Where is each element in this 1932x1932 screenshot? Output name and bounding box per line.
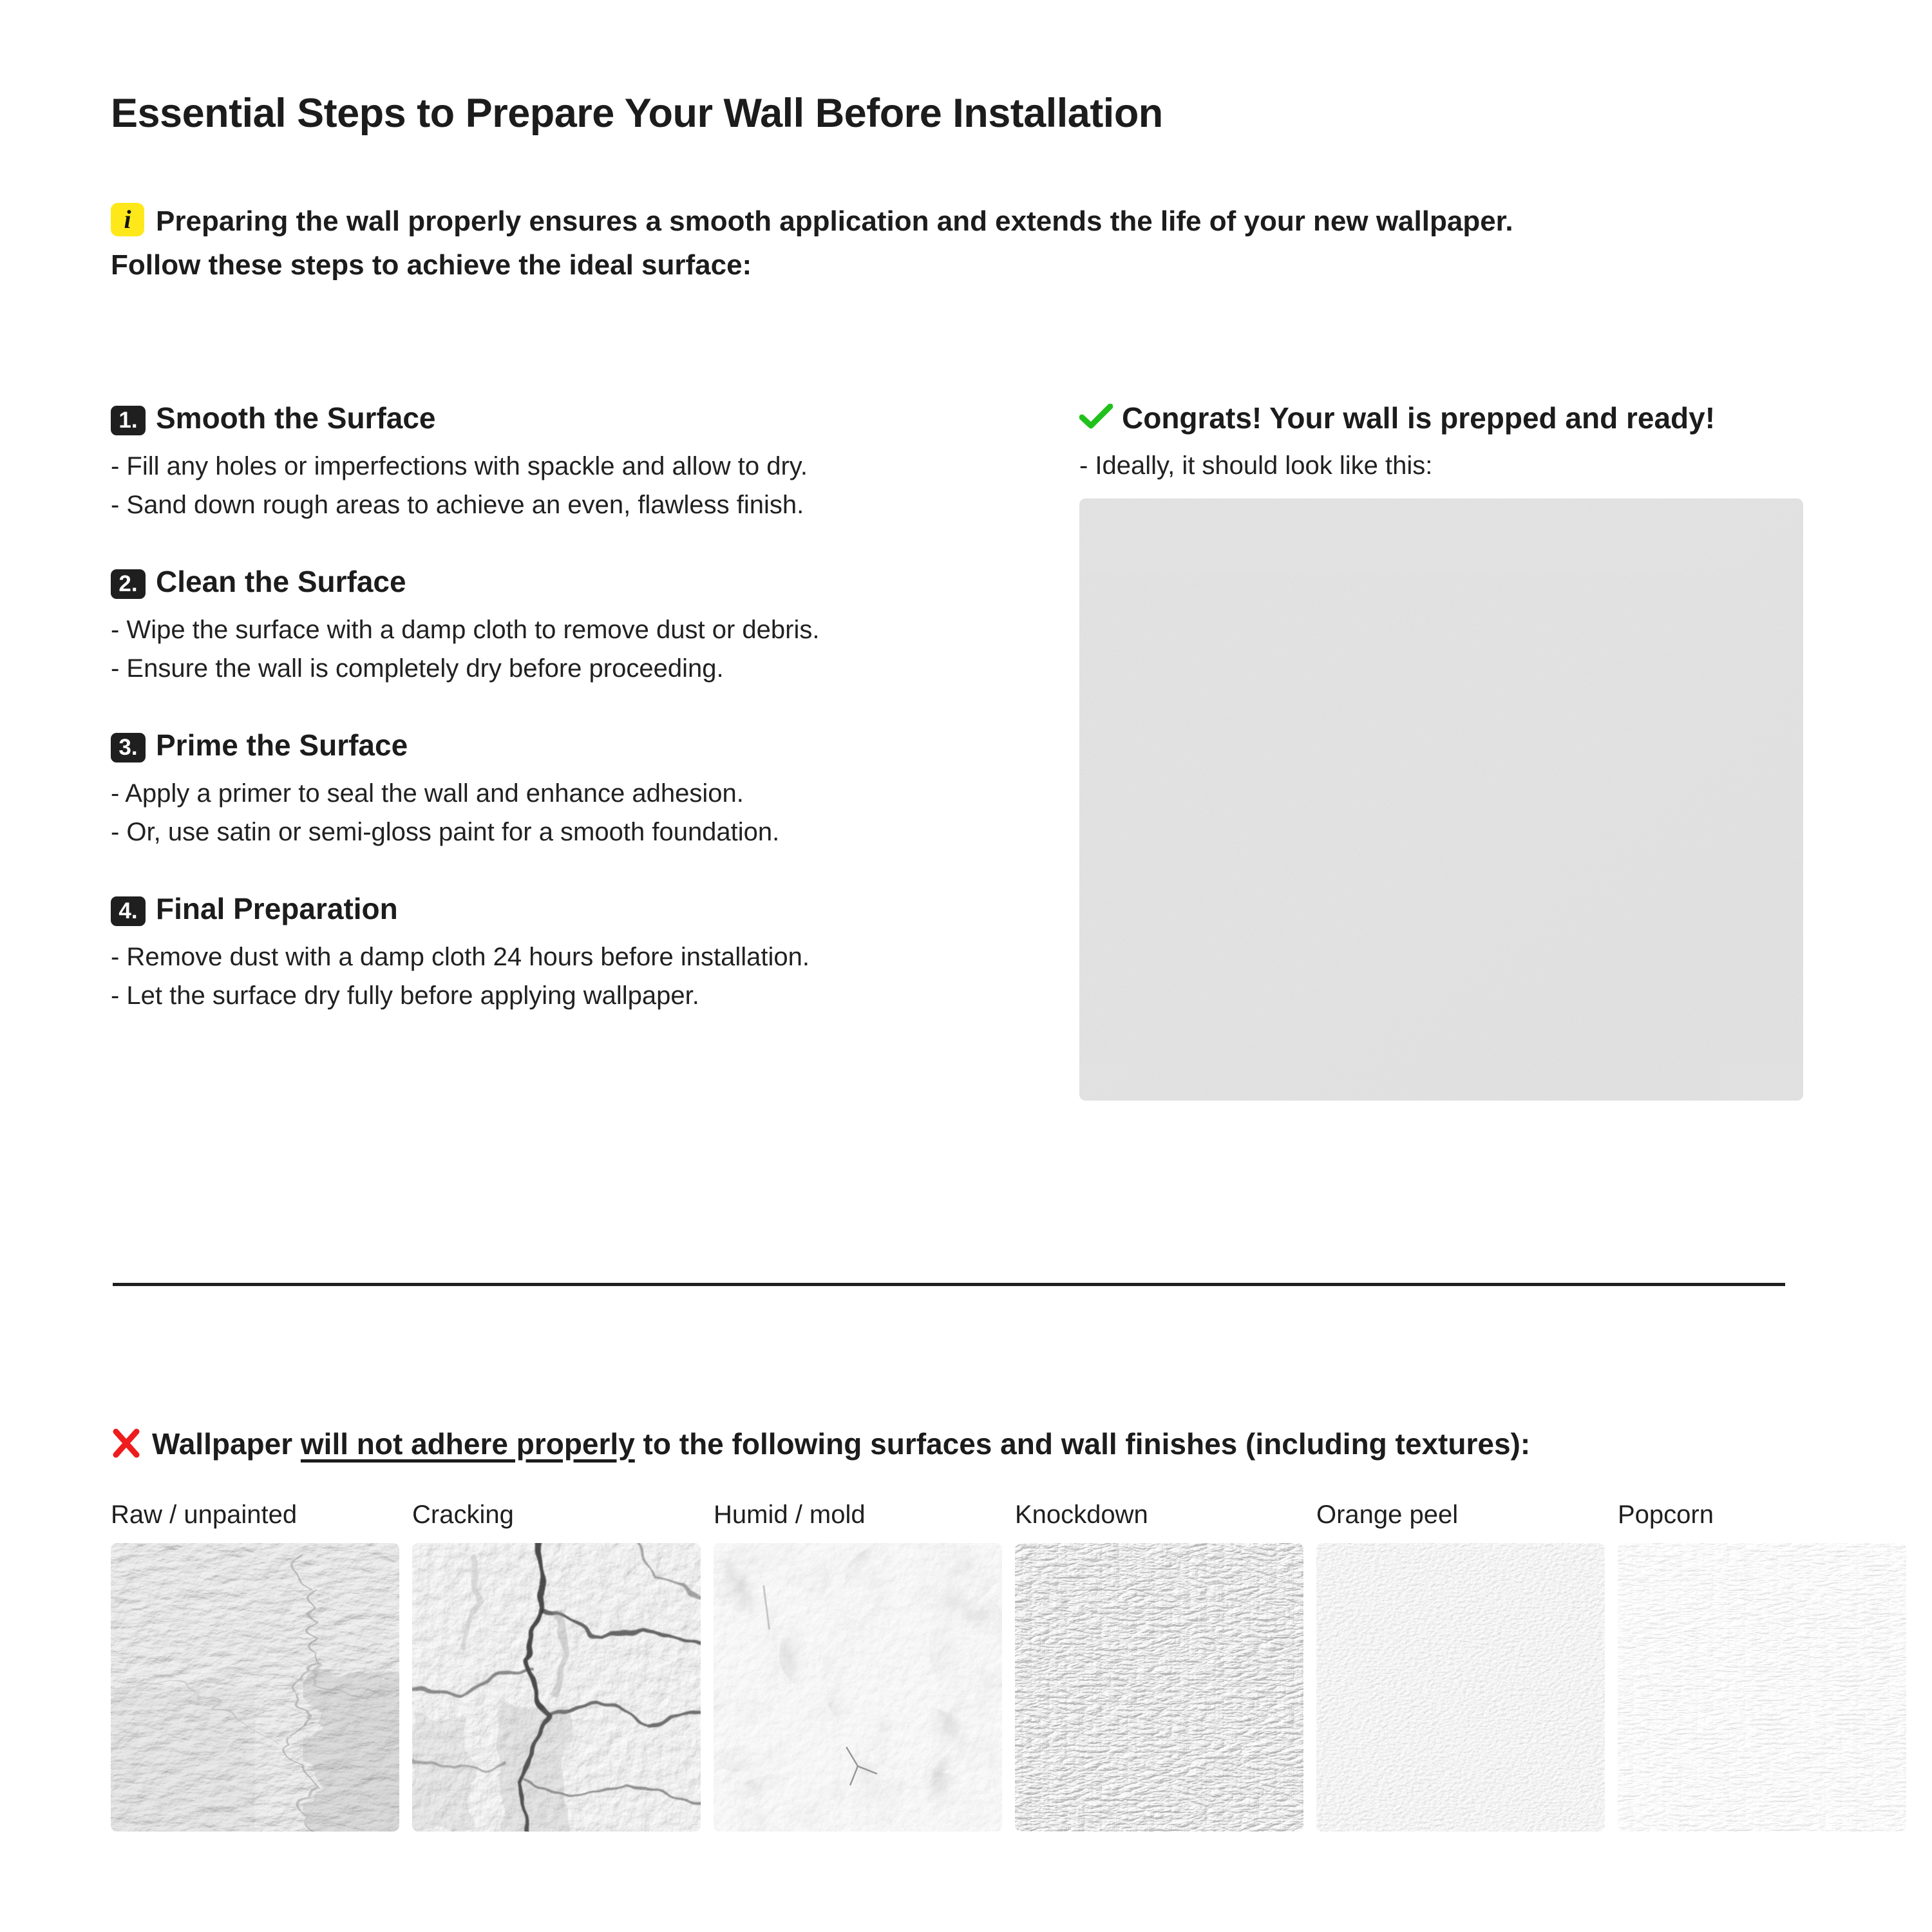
step-number-badge: 2. (111, 569, 146, 599)
congrats-text: Congrats! Your wall is prepped and ready… (1122, 401, 1715, 435)
steps-list: 1.Smooth the Surface - Fill any holes or… (111, 399, 1025, 1015)
close-x-icon (111, 1428, 142, 1459)
step-body: - Apply a primer to seal the wall and en… (111, 774, 1025, 851)
ideal-surface-column: Congrats! Your wall is prepped and ready… (1079, 399, 1803, 1101)
section-divider (113, 1283, 1785, 1286)
step-line: - Sand down rough areas to achieve an ev… (111, 486, 1025, 524)
step-line: - Wipe the surface with a damp cloth to … (111, 611, 1025, 649)
step-line: - Ensure the wall is completely dry befo… (111, 649, 1025, 688)
step-item: 1.Smooth the Surface - Fill any holes or… (111, 399, 1025, 524)
step-item: 3.Prime the Surface - Apply a primer to … (111, 726, 1025, 851)
step-item: 4.Final Preparation - Remove dust with a… (111, 890, 1025, 1015)
swatch-label: Cracking (412, 1498, 701, 1531)
swatch-item: Humid / mold (714, 1498, 1002, 1832)
step-heading: Clean the Surface (156, 565, 406, 598)
swatch-label: Humid / mold (714, 1498, 1002, 1531)
warning-header: Wallpaper will not adhere properly to th… (111, 1425, 1530, 1463)
popcorn-texture (1618, 1543, 1906, 1832)
intro-line-2: Follow these steps to achieve the ideal … (111, 249, 752, 281)
knockdown-texture (1015, 1543, 1303, 1832)
ideal-wall-preview (1079, 498, 1803, 1101)
humid-mold-texture (714, 1543, 1002, 1832)
swatch-label: Orange peel (1316, 1498, 1605, 1531)
swatch-label: Popcorn (1618, 1498, 1906, 1531)
step-header: 3.Prime the Surface (111, 726, 1025, 764)
step-line: - Remove dust with a damp cloth 24 hours… (111, 938, 1025, 976)
step-number-badge: 1. (111, 406, 146, 435)
swatch-item: Knockdown (1015, 1498, 1303, 1832)
raw-unpainted-texture (111, 1543, 399, 1832)
swatch-label: Knockdown (1015, 1498, 1303, 1531)
step-number-badge: 4. (111, 896, 146, 926)
intro-block: i Preparing the wall properly ensures a … (111, 200, 1798, 287)
swatch-item: Cracking (412, 1498, 701, 1832)
info-icon: i (111, 203, 144, 236)
step-line: - Fill any holes or imperfections with s… (111, 447, 1025, 486)
swatch-label: Raw / unpainted (111, 1498, 399, 1531)
step-line: - Apply a primer to seal the wall and en… (111, 774, 1025, 813)
check-icon (1079, 402, 1113, 429)
congrats-header: Congrats! Your wall is prepped and ready… (1079, 399, 1803, 437)
swatch-item: Orange peel (1316, 1498, 1605, 1832)
page-title: Essential Steps to Prepare Your Wall Bef… (111, 90, 1163, 137)
step-header: 4.Final Preparation (111, 890, 1025, 927)
step-heading: Final Preparation (156, 892, 398, 925)
step-number-badge: 3. (111, 733, 146, 762)
warning-emphasis: will not adhere properly (301, 1427, 635, 1461)
step-header: 2.Clean the Surface (111, 563, 1025, 600)
step-body: - Fill any holes or imperfections with s… (111, 447, 1025, 524)
step-heading: Smooth the Surface (156, 401, 436, 435)
info-icon-glyph: i (111, 207, 144, 232)
step-item: 2.Clean the Surface - Wipe the surface w… (111, 563, 1025, 688)
step-line: - Or, use satin or semi-gloss paint for … (111, 813, 1025, 851)
step-body: - Remove dust with a damp cloth 24 hours… (111, 938, 1025, 1015)
warning-prefix: Wallpaper (152, 1427, 301, 1461)
step-body: - Wipe the surface with a damp cloth to … (111, 611, 1025, 688)
cracking-texture (412, 1543, 701, 1832)
intro-line-1: Preparing the wall properly ensures a sm… (156, 205, 1513, 237)
wall-prep-infographic: Essential Steps to Prepare Your Wall Bef… (0, 0, 1932, 1932)
swatch-item: Raw / unpainted (111, 1498, 399, 1832)
step-heading: Prime the Surface (156, 728, 408, 762)
warning-suffix: to the following surfaces and wall finis… (635, 1427, 1530, 1461)
bad-surface-swatches: Raw / unpainted (111, 1498, 1803, 1832)
step-header: 1.Smooth the Surface (111, 399, 1025, 437)
orange-peel-texture (1316, 1543, 1605, 1832)
step-line: - Let the surface dry fully before apply… (111, 976, 1025, 1015)
ideal-subline: - Ideally, it should look like this: (1079, 448, 1803, 483)
swatch-item: Popcorn (1618, 1498, 1906, 1832)
